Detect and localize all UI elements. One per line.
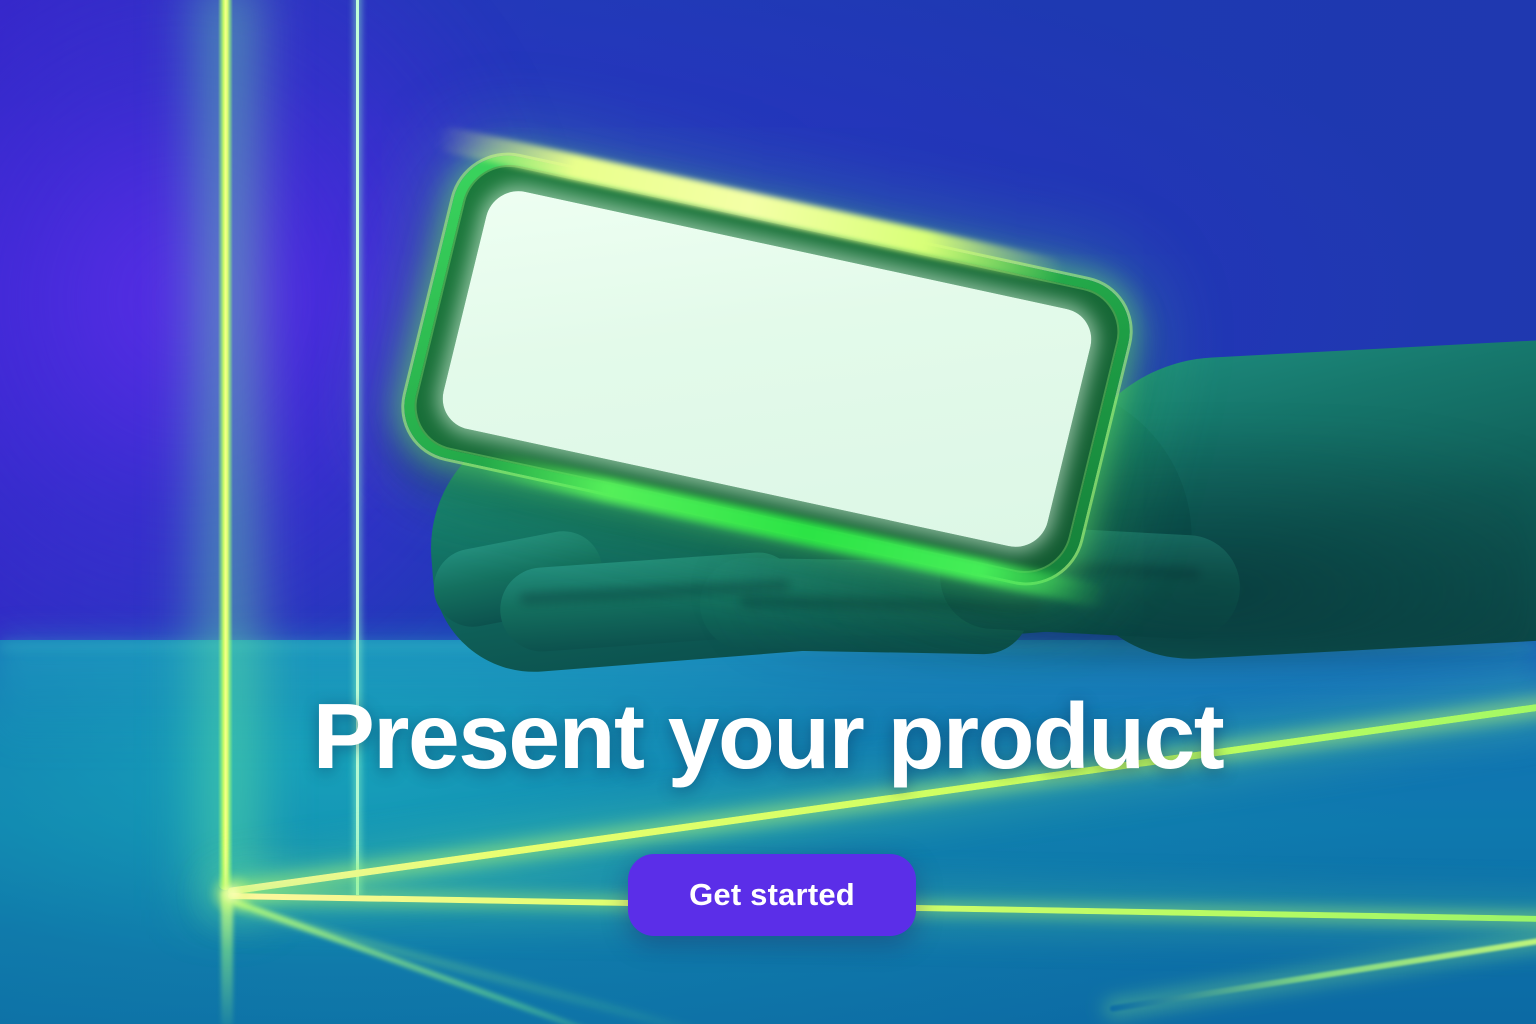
page-title: Present your product bbox=[0, 690, 1536, 783]
smartphone bbox=[404, 196, 1164, 596]
phone-screen bbox=[436, 185, 1098, 553]
get-started-button[interactable]: Get started bbox=[628, 854, 916, 936]
hero-banner: Present your product Get started bbox=[0, 0, 1536, 1024]
